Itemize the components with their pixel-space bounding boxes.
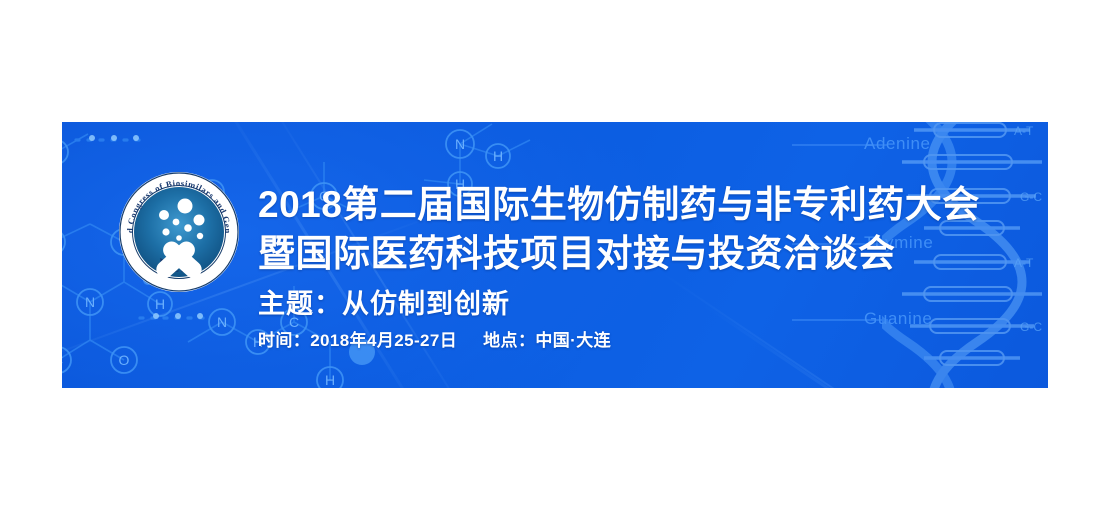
svg-text:N: N [217,314,227,330]
wcbg-logo: World Congress of Biosimilars and Generi… [117,170,241,294]
headline-line-1: 2018第二届国际生物仿制药与非专利药大会 [258,180,1018,229]
date-label: 时间： [258,331,310,350]
conference-banner: H N C N C O H N H C H H C N H H C [62,122,1048,388]
theme-line: 主题：从仿制到创新 [258,282,1018,326]
svg-text:N: N [455,136,465,152]
headline-line-2: 暨国际医药科技项目对接与投资洽谈会 [258,229,1018,278]
theme-value: 从仿制到创新 [342,289,510,319]
svg-text:G-C: G-C [1020,320,1042,334]
banner-text-block: 2018第二届国际生物仿制药与非专利药大会 暨国际医药科技项目对接与投资洽谈会 … [258,180,1018,354]
dna-label-adenine: Adenine [864,134,931,154]
date-value: 2018年4月25-27日 [310,331,457,350]
theme-label: 主题： [258,289,342,319]
svg-text:H: H [155,296,165,312]
venue-value: 中国·大连 [535,331,611,350]
page-root: H N C N C O H N H C H H C N H H C [0,0,1110,520]
svg-text:G-C: G-C [1020,190,1042,204]
svg-text:N: N [85,294,95,310]
svg-text:H: H [493,148,503,164]
svg-text:H: H [325,372,335,388]
meta-line: 时间：2018年4月25-27日地点：中国·大连 [258,328,1018,354]
venue-label: 地点： [483,331,535,350]
svg-text:A-T: A-T [1014,124,1034,138]
svg-text:C: C [62,352,63,368]
svg-text:O: O [119,352,130,368]
